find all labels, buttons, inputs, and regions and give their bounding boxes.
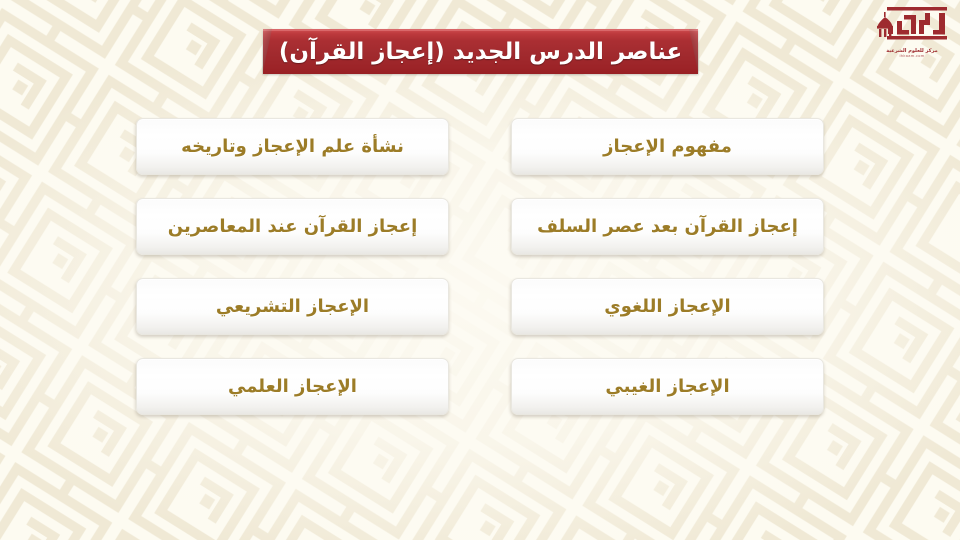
- card-mafhoum-aliajaz[interactable]: مفهوم الإعجاز: [511, 118, 824, 175]
- lesson-elements-grid: مفهوم الإعجاز نشأة علم الإعجاز وتاريخه إ…: [0, 118, 960, 438]
- card-label: الإعجاز العلمي: [228, 378, 357, 396]
- card-aliajaz-alilmi[interactable]: الإعجاز العلمي: [136, 358, 449, 415]
- card-nashat-ilm-aliajaz[interactable]: نشأة علم الإعجاز وتاريخه: [136, 118, 449, 175]
- card-label: الإعجاز اللغوي: [604, 298, 730, 316]
- page-title: عناصر الدرس الجديد (إعجاز القرآن): [279, 41, 682, 64]
- card-aliajaz-allughawi[interactable]: الإعجاز اللغوي: [511, 278, 824, 335]
- card-label: الإعجاز التشريعي: [216, 298, 369, 316]
- logo: مركز للعلوم الشرعية Ihkaam.com: [872, 6, 952, 74]
- card-ijaz-ind-almuasirin[interactable]: إعجاز القرآن عند المعاصرين: [136, 198, 449, 255]
- slide-canvas: عناصر الدرس الجديد (إعجاز القرآن): [0, 0, 960, 540]
- card-aliajaz-alghaybi[interactable]: الإعجاز الغيبي: [511, 358, 824, 415]
- logo-wordmark-icon: [875, 6, 949, 46]
- card-row: الإعجاز اللغوي الإعجاز التشريعي: [0, 278, 960, 335]
- slide-title-banner: عناصر الدرس الجديد (إعجاز القرآن): [263, 29, 698, 74]
- card-label: مفهوم الإعجاز: [603, 138, 732, 156]
- card-row: مفهوم الإعجاز نشأة علم الإعجاز وتاريخه: [0, 118, 960, 175]
- card-row: الإعجاز الغيبي الإعجاز العلمي: [0, 358, 960, 415]
- card-label: إعجاز القرآن بعد عصر السلف: [537, 218, 798, 236]
- card-label: إعجاز القرآن عند المعاصرين: [168, 218, 417, 236]
- card-row: إعجاز القرآن بعد عصر السلف إعجاز القرآن …: [0, 198, 960, 255]
- card-ijaz-baad-asr-alsalaf[interactable]: إعجاز القرآن بعد عصر السلف: [511, 198, 824, 255]
- card-aliajaz-altashrii[interactable]: الإعجاز التشريعي: [136, 278, 449, 335]
- card-label: نشأة علم الإعجاز وتاريخه: [181, 138, 404, 156]
- logo-subtitle-latin: Ihkaam.com: [872, 54, 952, 58]
- card-label: الإعجاز الغيبي: [605, 378, 729, 396]
